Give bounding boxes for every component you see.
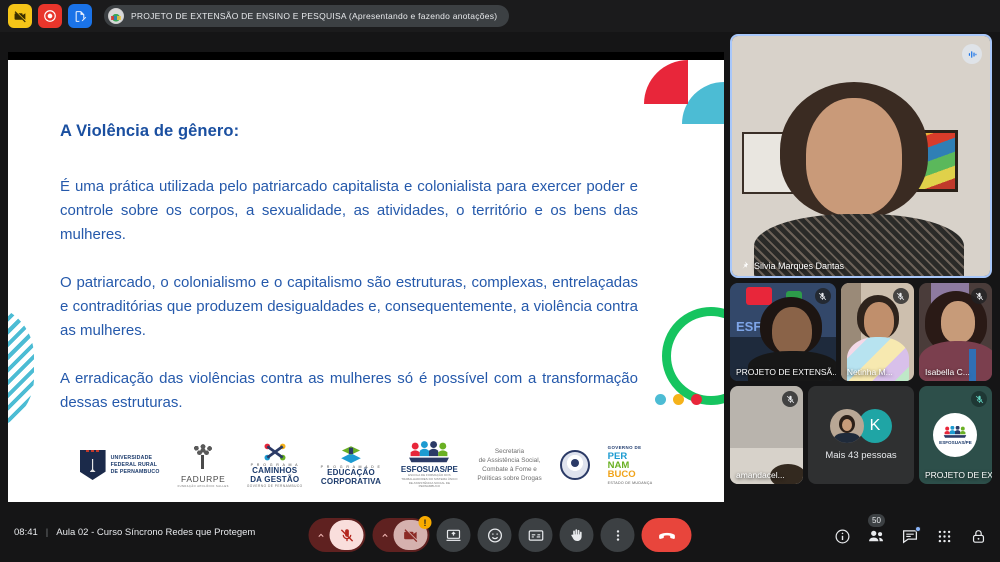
mic-off-icon [815, 288, 831, 304]
pin-icon [739, 260, 749, 271]
bottom-right-icons: 50 [832, 526, 988, 546]
slide-paragraph-1: É uma prática utilizada pelo patriarcado… [60, 175, 638, 247]
participants-button[interactable]: 50 [866, 526, 886, 546]
raise-hand-button[interactable] [560, 518, 594, 552]
caminhos-sub: GOVERNO DE PERNAMBUCO [247, 484, 303, 488]
captions-button[interactable] [519, 518, 553, 552]
caminhos-people-icon [261, 442, 289, 462]
decoration-dots [655, 394, 702, 405]
chevron-up-icon[interactable] [312, 520, 330, 550]
educacao-corporativa-logo: P R O G R A M A D E EDUCAÇÃO CORPORATIVA [321, 444, 382, 486]
meeting-status: 08:41 | Aula 02 - Curso Síncrono Redes q… [14, 527, 255, 538]
ufrpe-line-1: UNIVERSIDADE [111, 455, 160, 462]
mic-off-icon [971, 288, 987, 304]
main-speaker-video [732, 36, 990, 276]
educacao-line-2: CORPORATIVA [321, 478, 382, 487]
end-call-button[interactable] [642, 518, 692, 552]
main-speaker-name-bar: Silvia Marques Dantas [739, 260, 844, 271]
more-participants-label: Mais 43 pessoas [825, 450, 896, 461]
brasao-pernambuco-logo [560, 450, 590, 480]
meeting-window: PROJETO DE EXTENSÃO DE ENSINO E PESQUISA… [0, 0, 1000, 562]
participants-count-badge: 50 [868, 514, 885, 527]
fadurpe-sub: FUNDAÇÃO APOLÔNIO SALLES [178, 485, 229, 488]
more-participants-tile[interactable]: K Mais 43 pessoas [808, 386, 914, 484]
chat-unread-dot [915, 526, 921, 532]
meeting-name: Aula 02 - Curso Síncrono Redes que Prote… [56, 527, 255, 538]
caminhos-line-2: DA GESTÃO [247, 476, 303, 485]
decoration-cyan-quarter [682, 82, 724, 124]
governo-pernambuco-logo: GOVERNO DE PER NAM BUCO ESTADO DE MUDANÇ… [608, 444, 653, 487]
mic-off-icon [893, 288, 909, 304]
secretaria-line-4: Políticas sobre Drogas [477, 474, 541, 483]
participant-name: PROJETO DE EX... [925, 470, 992, 480]
audio-waveform-icon[interactable] [962, 44, 982, 64]
presenting-title: PROJETO DE EXTENSÃO DE ENSINO E PESQUISA… [131, 11, 497, 21]
esfosuas-tile-label: ESFOSUAS/PE [939, 440, 972, 445]
camera-warning-badge: ! [419, 516, 432, 529]
mic-off-icon [971, 391, 987, 407]
mic-off-icon[interactable] [330, 520, 364, 550]
present-screen-button[interactable] [437, 518, 471, 552]
fadurpe-tree-icon [190, 443, 216, 473]
chat-button[interactable] [900, 526, 920, 546]
top-bar: PROJETO DE EXTENSÃO DE ENSINO E PESQUISA… [0, 0, 1000, 32]
esfosuas-people-icon [406, 441, 452, 465]
participant-name: amandacel... [736, 470, 785, 480]
fadurpe-logo: FADURPE FUNDAÇÃO APOLÔNIO SALLES [178, 443, 229, 488]
esfosuas-sub: ESCOLA DE FORMAÇÃO DOS TRABALHADORES DO … [399, 474, 459, 488]
participant-tile-netinha[interactable]: Netinha M... [841, 283, 914, 381]
gov-pe-line-5: ESTADO DE MUDANÇA [608, 479, 653, 487]
participant-row-2: amandacel... K Mais 43 pessoas [730, 386, 992, 484]
activities-button[interactable] [934, 526, 954, 546]
slide-paragraph-3: A erradicação das violências contra as m… [60, 367, 638, 415]
more-options-button[interactable] [601, 518, 635, 552]
esfosuas-tile-logo: ESFOSUAS/PE [933, 413, 977, 457]
gov-pe-line-4: BUCO [608, 470, 636, 479]
meeting-time: 08:41 [14, 527, 38, 538]
ufrpe-line-2: FEDERAL RURAL [111, 462, 160, 469]
annotate-document-icon[interactable] [68, 4, 92, 28]
record-icon[interactable] [38, 4, 62, 28]
host-controls-button[interactable] [968, 526, 988, 546]
call-controls: ! [309, 518, 692, 552]
slide-title: A Violência de gênero: [60, 122, 684, 141]
camera-off-icon[interactable] [8, 4, 32, 28]
camera-toggle[interactable]: ! [373, 518, 430, 552]
presentation-stage[interactable]: A Violência de gênero: É uma prática uti… [8, 52, 724, 502]
participant-row-1: ESF PROJETO DE EXTENSÃ... [730, 283, 992, 381]
meeting-details-button[interactable] [832, 526, 852, 546]
secretaria-line-2: de Assistência Social, [477, 456, 541, 465]
esfosuas-pe-logo: ESFOSUAS/PE ESCOLA DE FORMAÇÃO DOS TRABA… [399, 441, 459, 488]
caminhos-da-gestao-logo: P R O G R A M A CAMINHOS DA GESTÃO GOVER… [247, 442, 303, 488]
chevron-up-icon[interactable] [376, 520, 394, 550]
secretaria-assistencia-social-logo: Secretaria de Assistência Social, Combat… [477, 447, 541, 483]
avatar [830, 409, 864, 443]
participant-tile-projeto[interactable]: ESF PROJETO DE EXTENSÃ... [730, 283, 836, 381]
participant-name: PROJETO DE EXTENSÃ... [736, 367, 836, 377]
participants-rail: Silvia Marques Dantas ESF [730, 34, 992, 484]
educacao-book-icon [337, 444, 365, 464]
main-speaker-name: Silvia Marques Dantas [754, 261, 844, 271]
slide-logo-strip: UNIVERSIDADE FEDERAL RURAL DE PERNAMBUCO… [8, 436, 724, 494]
participant-tile-projeto-logo[interactable]: ESFOSUAS/PE PROJETO DE EX... [919, 386, 992, 484]
ufrpe-logo: UNIVERSIDADE FEDERAL RURAL DE PERNAMBUCO [80, 450, 160, 480]
presenter-avatar-icon [108, 8, 124, 24]
ufrpe-line-3: DE PERNAMBUCO [111, 469, 160, 476]
secretaria-line-1: Secretaria [477, 447, 541, 456]
microphone-toggle[interactable] [309, 518, 366, 552]
decoration-striped-arc [8, 304, 34, 430]
secretaria-line-3: Combate à Fome e [477, 465, 541, 474]
camera-off-icon[interactable]: ! [394, 520, 428, 550]
reactions-button[interactable] [478, 518, 512, 552]
esfosuas-people-icon [941, 426, 969, 439]
presenting-status-pill[interactable]: PROJETO DE EXTENSÃO DE ENSINO E PESQUISA… [104, 5, 509, 27]
slide-text-block: A Violência de gênero: É uma prática uti… [60, 60, 684, 415]
fadurpe-label: FADURPE [181, 474, 225, 484]
overflow-avatars: K [830, 409, 892, 443]
participant-tile-amanda[interactable]: amandacel... [730, 386, 803, 484]
ufrpe-crest-icon [80, 450, 106, 480]
participant-name: Isabella C... [925, 367, 970, 377]
slide-content: A Violência de gênero: É uma prática uti… [8, 60, 724, 502]
main-speaker-tile[interactable]: Silvia Marques Dantas [730, 34, 992, 278]
participant-name: Netinha M... [847, 367, 893, 377]
participant-tile-isabella[interactable]: Isabella C... [919, 283, 992, 381]
bottom-bar: 08:41 | Aula 02 - Curso Síncrono Redes q… [0, 510, 1000, 562]
slide-letterbox [8, 52, 724, 60]
slide-paragraph-2: O patriarcado, o colonialismo e o capita… [60, 271, 638, 343]
status-separator: | [46, 527, 48, 538]
mic-off-icon [782, 391, 798, 407]
